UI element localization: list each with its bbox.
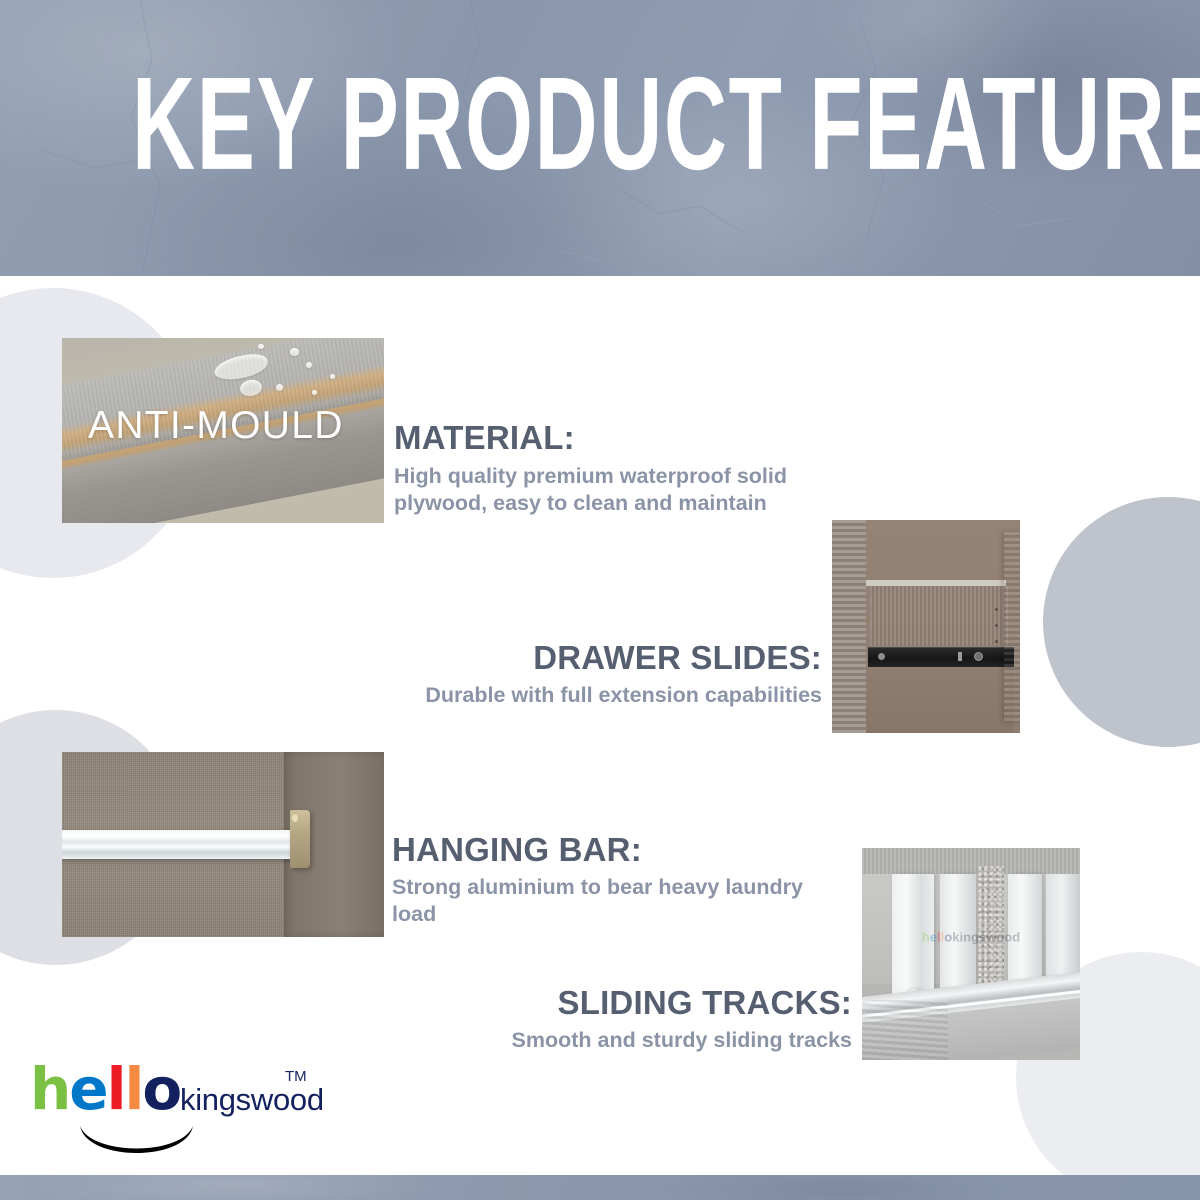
- logo-letter-l2: l: [125, 1060, 143, 1118]
- footer-banner: [0, 1175, 1200, 1200]
- feature-hanging-text: HANGING BAR: Strong aluminium to bear he…: [392, 832, 822, 929]
- brand-logo[interactable]: hello kingswood TM: [30, 1060, 320, 1165]
- feature-material-title: MATERIAL:: [394, 420, 864, 456]
- feature-sliding-title: SLIDING TRACKS:: [360, 985, 852, 1021]
- logo-smile-icon: [74, 1122, 199, 1162]
- logo-letter-o: o: [142, 1060, 180, 1118]
- logo-trademark-symbol: TM: [285, 1068, 307, 1085]
- feature-drawer-text: DRAWER SLIDES: Durable with full extensi…: [330, 640, 822, 709]
- sliding-track-photo: hellokingswood: [862, 848, 1080, 1060]
- plywood-sheets-photo: ANTI-MOULD: [62, 338, 384, 523]
- logo-brand-name: kingswood: [180, 1082, 324, 1118]
- image-overlay-label-anti-mould: ANTI-MOULD: [88, 404, 344, 448]
- header-banner: KEY PRODUCT FEATURES: [0, 0, 1200, 276]
- feature-hanging-title: HANGING BAR:: [392, 832, 822, 868]
- feature-drawer-title: DRAWER SLIDES:: [330, 640, 822, 676]
- logo-letter-l1: l: [107, 1060, 125, 1118]
- footer-texture: [0, 1175, 1200, 1200]
- logo-hello-wordmark: hello: [30, 1060, 180, 1118]
- logo-letter-e: e: [69, 1060, 106, 1118]
- drawer-slide-photo: [832, 520, 1020, 733]
- feature-sliding-text: SLIDING TRACKS: Smooth and sturdy slidin…: [360, 985, 852, 1054]
- feature-hanging-description: Strong aluminium to bear heavy laundry l…: [392, 874, 822, 929]
- decorative-circle-mid-right: [1043, 497, 1200, 747]
- feature-sliding-description: Smooth and sturdy sliding tracks: [360, 1027, 852, 1055]
- hanging-bar-photo: [62, 752, 384, 937]
- page-title: KEY PRODUCT FEATURES: [132, 58, 1068, 190]
- feature-drawer-description: Durable with full extension capabilities: [330, 682, 822, 710]
- feature-material-text: MATERIAL: High quality premium waterproo…: [394, 420, 864, 518]
- feature-material-description: High quality premium waterproof solid pl…: [394, 463, 864, 518]
- infographic-page: KEY PRODUCT FEATURES: [0, 0, 1200, 1200]
- logo-letter-h: h: [30, 1060, 69, 1118]
